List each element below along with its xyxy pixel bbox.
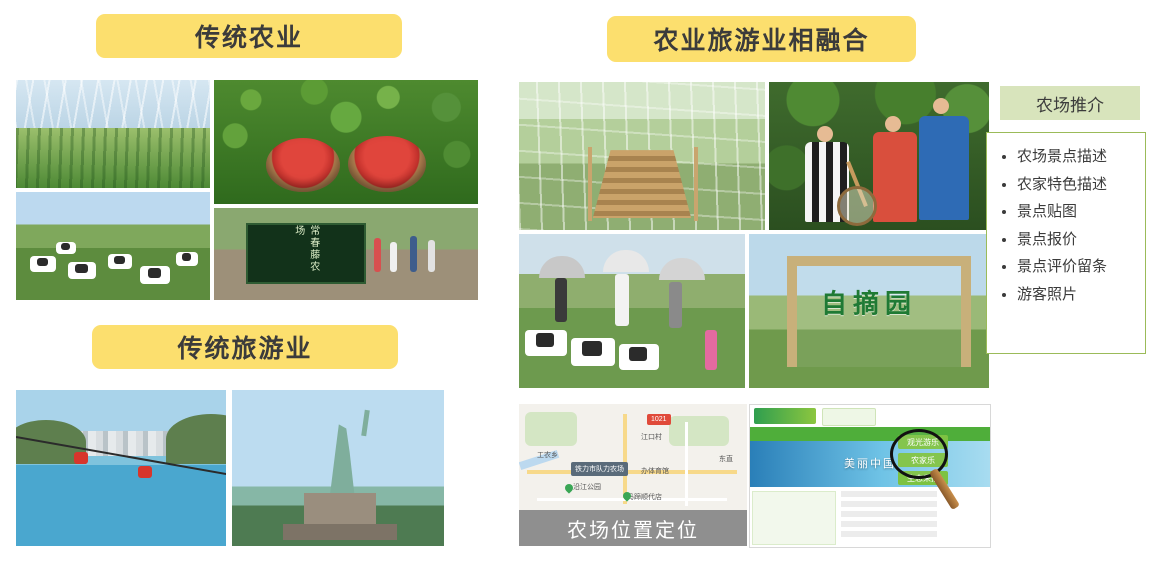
site-content-row: [841, 501, 937, 507]
heading-traditional-agriculture-label: 传统农业: [195, 18, 303, 54]
umbrella: [539, 256, 585, 278]
panel-list-item[interactable]: 游客照片: [1017, 287, 1135, 304]
map-road-secondary: [685, 422, 688, 506]
cow: [140, 266, 170, 284]
cow: [176, 252, 198, 266]
site-content-row: [841, 521, 937, 527]
photo-greenhouse: [16, 80, 210, 188]
farm-gate-sign-text: 常春藤农场: [246, 223, 366, 284]
photo-bamboo-gate: 自摘园: [749, 234, 989, 388]
photo-strawberries: [214, 80, 478, 204]
site-content-rows: [841, 491, 937, 543]
photo-cow-visitors: [519, 234, 745, 388]
photo-cows-pasture: [16, 192, 210, 300]
visitor-figure: [555, 278, 567, 322]
panel-list-item[interactable]: 农家特色描述: [1017, 177, 1135, 194]
umbrella: [603, 250, 649, 272]
statue-torch: [362, 410, 371, 436]
site-hero-text: 美丽中国: [844, 455, 896, 471]
map-label: 工农乡: [537, 450, 558, 460]
strawberry-basket-right: [348, 136, 426, 192]
strawberry-leaves: [214, 80, 478, 204]
panel-list-item[interactable]: 景点贴图: [1017, 204, 1135, 221]
cable-car-cabin: [74, 452, 88, 464]
map-road: [527, 470, 737, 474]
panel-list-item[interactable]: 景点评价留条: [1017, 259, 1135, 276]
map-chip-gym: 办体育馆: [641, 466, 669, 476]
map-label: 东直: [719, 454, 733, 464]
child-figure: [873, 132, 917, 222]
visitor-figure: [615, 274, 629, 326]
map-chip-farm: 铁力市队力农场: [571, 462, 628, 476]
map-label: 沿江公园: [573, 482, 601, 492]
panel-list-item[interactable]: 农场景点描述: [1017, 149, 1135, 166]
handrail-left: [588, 147, 592, 221]
site-sidebar: [752, 491, 836, 545]
statue-pedestal: [304, 493, 376, 527]
map-green-area: [525, 412, 577, 446]
map-green-area: [669, 416, 729, 446]
heading-fusion-label: 农业旅游业相融合: [653, 21, 869, 57]
site-logo-secondary: [822, 408, 876, 426]
child-head: [933, 98, 949, 114]
statue-figure: [325, 424, 359, 494]
statue-pedestal-base: [283, 524, 397, 540]
site-navbar[interactable]: [750, 427, 990, 441]
child-figure: [919, 116, 969, 220]
panel-title: 农场推介: [1000, 86, 1140, 120]
photo-greenhouse-walkway: [519, 82, 765, 230]
hill: [166, 414, 226, 464]
heading-traditional-tourism: 传统旅游业: [92, 325, 398, 369]
site-content-row: [841, 511, 937, 517]
heading-fusion: 农业旅游业相融合: [607, 16, 916, 62]
map-label: 江口村: [641, 432, 662, 442]
site-content-row: [841, 531, 937, 537]
photo-kids-picking: [769, 82, 989, 230]
heading-traditional-tourism-label: 传统旅游业: [177, 329, 312, 365]
handrail-right: [694, 147, 698, 221]
photo-farm-website: 美丽中国 观光游乐 农家乐 生态采摘: [749, 404, 991, 548]
site-logo: [754, 408, 816, 424]
cable-car-cabin: [138, 466, 152, 478]
photo-farm-location-map: 工农乡 江口村 东直 沿江公园 1021 铁力市队力农场 马蹄顺代店 办体育馆 …: [519, 404, 747, 546]
visitor-figure: [428, 240, 435, 272]
map-chip-store: 马蹄顺代店: [627, 492, 662, 502]
panel-list-item[interactable]: 景点报价: [1017, 232, 1135, 249]
heading-traditional-agriculture: 传统农业: [96, 14, 402, 58]
cow: [619, 344, 659, 370]
map-caption: 农场位置定位: [519, 510, 747, 546]
farm-recommendation-panel: 农场景点描述 农家特色描述 景点贴图 景点报价 景点评价留条 游客照片: [986, 132, 1146, 354]
visitor-figure: [410, 236, 417, 272]
site-content-row: [841, 491, 937, 497]
strawberry-basket-left: [266, 138, 340, 192]
cow: [56, 242, 76, 254]
site-header: [750, 405, 990, 428]
visitor-figure: [669, 282, 682, 328]
umbrella: [659, 258, 705, 280]
visitor-figure: [705, 330, 717, 370]
photo-cable-car: [16, 390, 226, 546]
cow: [30, 256, 56, 272]
cow: [68, 262, 96, 279]
panel-title-label: 农场推介: [1036, 91, 1104, 116]
child-head: [885, 116, 901, 132]
photo-farm-gate: 常春藤农场: [214, 208, 478, 300]
cow: [108, 254, 132, 269]
child-head: [817, 126, 833, 142]
cow: [571, 338, 615, 366]
panel-list: 农场景点描述 农家特色描述 景点贴图 景点报价 景点评价留条 游客照片: [1001, 149, 1135, 303]
visitor-figure: [374, 238, 381, 272]
photo-statue-of-liberty: [232, 390, 444, 546]
net-ring: [837, 186, 877, 226]
map-route-badge: 1021: [647, 414, 671, 425]
cow: [525, 330, 567, 356]
visitor-figure: [390, 242, 397, 272]
bamboo-gate-text: 自摘园: [821, 283, 917, 320]
